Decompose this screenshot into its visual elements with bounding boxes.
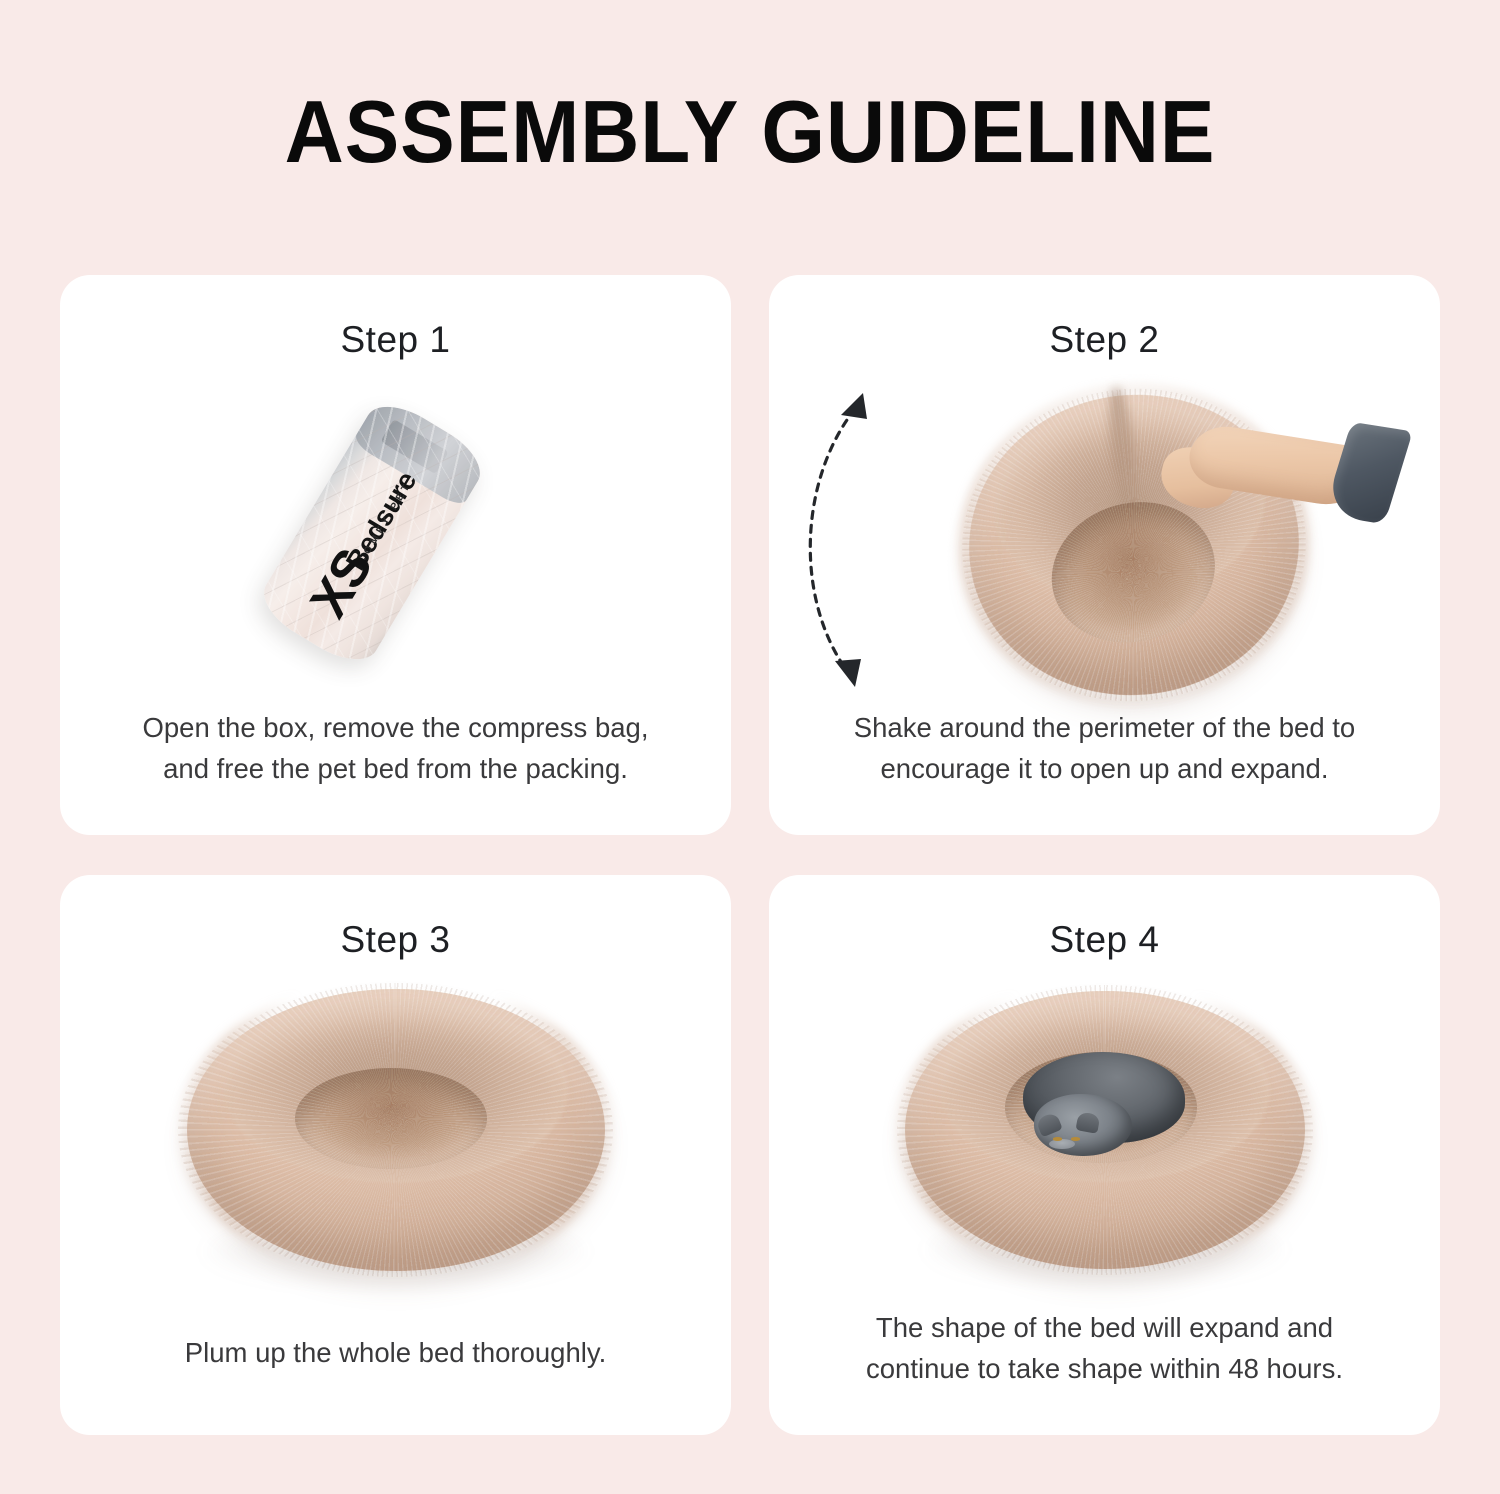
step-2-caption-line-1: Shake around the perimeter of the bed to (809, 707, 1400, 748)
step-card-3: Step 3 Plum up the whole bed thoroughly. (60, 875, 731, 1435)
compressed-bag-package: Bedsure COMFY PET XS (246, 400, 546, 660)
cat-head (1034, 1094, 1133, 1156)
step-card-4: Step 4 (769, 875, 1440, 1435)
step-3-caption-line-1: Plum up the whole bed thoroughly. (100, 1332, 691, 1373)
step-2-illustration (769, 385, 1440, 675)
step-2-caption-line-2: encourage it to open up and expand. (809, 748, 1400, 789)
step-1-caption: Open the box, remove the compress bag, a… (100, 707, 691, 790)
bed-cavity-fur-texture (295, 1068, 487, 1170)
sleeping-cat (1013, 1049, 1189, 1160)
step-card-1: Step 1 Bedsure COMFY PET XS Open the box… (60, 275, 731, 835)
step-4-caption-line-1: The shape of the bed will expand and (809, 1307, 1400, 1348)
hand-holding-bed (1189, 425, 1399, 521)
step-2-heading: Step 2 (769, 319, 1440, 361)
step-1-illustration: Bedsure COMFY PET XS (60, 385, 731, 675)
cat-ear-left (1035, 1112, 1062, 1137)
step-3-heading: Step 3 (60, 919, 731, 961)
bag-body: Bedsure COMFY PET XS (252, 393, 490, 673)
page-title: ASSEMBLY GUIDELINE (53, 88, 1448, 176)
sleeve-cuff (1323, 422, 1413, 524)
step-4-illustration (769, 985, 1440, 1275)
steps-grid: Step 1 Bedsure COMFY PET XS Open the box… (60, 275, 1440, 1435)
pet-bed-step-4 (905, 991, 1305, 1269)
assembly-guideline-page: ASSEMBLY GUIDELINE Step 1 Bedsure COMFY … (0, 0, 1500, 1494)
cat-ear-right (1076, 1111, 1101, 1133)
step-3-caption: Plum up the whole bed thoroughly. (100, 1332, 691, 1373)
pet-bed-step-3 (187, 989, 605, 1271)
bed-inner-cavity (295, 1068, 487, 1170)
step-4-heading: Step 4 (769, 919, 1440, 961)
step-1-caption-line-1: Open the box, remove the compress bag, (100, 707, 691, 748)
step-1-heading: Step 1 (60, 319, 731, 361)
step-3-illustration (60, 985, 731, 1275)
cat-eye-right (1071, 1137, 1080, 1140)
step-4-caption: The shape of the bed will expand and con… (809, 1307, 1400, 1390)
shake-arrow-icon (777, 385, 907, 695)
step-card-2: Step 2 (769, 275, 1440, 835)
step-1-caption-line-2: and free the pet bed from the packing. (100, 748, 691, 789)
cat-eye-left (1053, 1137, 1062, 1140)
step-2-caption: Shake around the perimeter of the bed to… (809, 707, 1400, 790)
step-4-caption-line-2: continue to take shape within 48 hours. (809, 1348, 1400, 1389)
